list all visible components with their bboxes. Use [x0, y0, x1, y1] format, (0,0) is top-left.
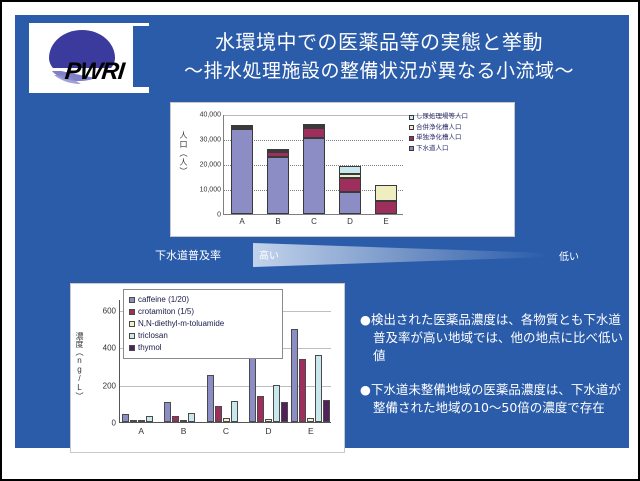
y-axis-tick-label: 0 [217, 212, 221, 219]
bar-stack [339, 166, 361, 214]
legend-swatch [409, 136, 414, 141]
bar [138, 420, 145, 422]
bar-segment [339, 174, 361, 178]
bar [188, 413, 195, 422]
bar [273, 385, 280, 422]
legend-label: 単独浄化槽人口 [416, 133, 462, 144]
bar [172, 416, 179, 422]
bar [307, 418, 314, 422]
x-axis-tick-label: A [239, 217, 244, 226]
y-axis-tick-label: 600 [103, 307, 116, 316]
legend-item: caffeine (1/20) [129, 294, 277, 306]
bar [281, 402, 288, 423]
legend-item: 下水道人口 [409, 144, 468, 155]
legend-label: crotamiton (1/5) [138, 306, 194, 318]
concentration-chart: 濃度（ng/L） 0200400600ABCDE caffeine (1/20)… [70, 283, 345, 453]
legend-item: crotamiton (1/5) [129, 306, 277, 318]
population-chart: 人口（人） 010,00020,00030,00040,000ABCDE し尿処… [170, 102, 515, 237]
bar-segment [267, 149, 289, 151]
legend-swatch [129, 333, 135, 339]
bar [323, 400, 330, 422]
legend-item: 単独浄化槽人口 [409, 133, 468, 144]
legend-item: triclosan [129, 330, 277, 342]
bar [223, 418, 230, 422]
title-line-2: 〜排水処理施設の整備状況が異なる小流域〜 [184, 57, 574, 86]
x-axis-tick-label: E [383, 217, 388, 226]
sewerage-rate-low-label: 低い [559, 248, 579, 263]
y-axis-tick-label: 10,000 [200, 187, 221, 194]
bar-segment [303, 128, 325, 138]
gridline [224, 115, 403, 116]
bar [122, 414, 129, 422]
y-axis-tick-label: 200 [103, 381, 116, 390]
concentration-chart-y-axis-label: 濃度（ng/L） [74, 332, 85, 400]
legend-swatch [129, 297, 135, 303]
bar [130, 420, 137, 422]
bar [164, 402, 171, 422]
population-chart-y-axis-label: 人口（人） [173, 131, 189, 176]
bar-segment [267, 152, 289, 156]
finding-item-1: ●検出された医薬品濃度は、各物質とも下水道普及率が高い地域では、他の地点に比べ低… [360, 311, 625, 365]
x-axis-tick-label: E [308, 426, 314, 436]
population-chart-plot-area: 010,00020,00030,00040,000ABCDE [223, 115, 403, 215]
bar-segment [231, 125, 253, 127]
legend-swatch [409, 146, 414, 151]
legend-swatch [129, 345, 135, 351]
x-axis-tick-label: C [311, 217, 317, 226]
legend-label: caffeine (1/20) [138, 294, 189, 306]
sewerage-rate-high-label: 高い [259, 247, 279, 262]
legend-label: N,N-diethyl-m-toluamide [138, 318, 224, 330]
bar-stack [375, 185, 397, 215]
legend-swatch [129, 321, 135, 327]
findings-list: ●検出された医薬品濃度は、各物質とも下水道普及率が高い地域では、他の地点に比べ低… [360, 311, 625, 433]
bar [299, 359, 306, 422]
slide-page: PWRI 水環境中での医薬品等の実態と挙動 〜排水処理施設の整備状況が異なる小流… [0, 0, 640, 481]
concentration-chart-legend: caffeine (1/20)crotamiton (1/5)N,N-dieth… [123, 289, 283, 359]
page-title: 水環境中での医薬品等の実態と挙動 〜排水処理施設の整備状況が異なる小流域〜 [133, 26, 625, 87]
bar [231, 401, 238, 422]
bar [315, 355, 322, 422]
sewerage-rate-band: 下水道普及率 高い 低い [155, 243, 625, 269]
population-chart-legend: し尿処理場等人口合併浄化槽人口単独浄化槽人口下水道人口 [409, 112, 468, 154]
x-axis-tick-label: C [223, 426, 229, 436]
legend-item: thymol [129, 342, 277, 354]
y-axis-tick-label: 400 [103, 344, 116, 353]
legend-swatch [409, 125, 414, 130]
bar-segment [303, 126, 325, 128]
slide-panel: PWRI 水環境中での医薬品等の実態と挙動 〜排水処理施設の整備状況が異なる小流… [13, 13, 631, 450]
finding-item-2: ●下水道未整備地域の医薬品濃度は、下水道が整備された地域の10〜50倍の濃度で存… [360, 381, 625, 417]
bar-segment [339, 178, 361, 192]
x-axis-tick-label: D [347, 217, 353, 226]
bar-segment [231, 129, 253, 214]
legend-item: し尿処理場等人口 [409, 112, 468, 123]
bar [180, 420, 187, 422]
bar-segment [231, 127, 253, 129]
x-axis-tick-label: B [181, 426, 187, 436]
bar [207, 375, 214, 422]
legend-item: 合併浄化槽人口 [409, 123, 468, 134]
x-axis-tick-label: A [138, 426, 144, 436]
bar-stack [231, 126, 253, 214]
legend-label: triclosan [138, 330, 168, 342]
sewerage-rate-label: 下水道普及率 [155, 247, 221, 263]
title-line-1: 水環境中での医薬品等の実態と挙動 [215, 28, 543, 57]
y-axis-tick-label: 30,000 [200, 137, 221, 144]
bar [146, 416, 153, 422]
bar [265, 419, 272, 422]
bar [257, 396, 264, 422]
bar-segment [303, 124, 325, 126]
pwri-logo: PWRI [29, 23, 149, 93]
legend-label: thymol [138, 342, 162, 354]
gradient-arrow-icon [253, 243, 548, 267]
bar [215, 406, 222, 422]
bar-segment [375, 201, 397, 215]
bar-segment [303, 138, 325, 214]
bar-segment [339, 166, 361, 174]
legend-swatch [409, 115, 414, 120]
legend-item: N,N-diethyl-m-toluamide [129, 318, 277, 330]
bar-stack [303, 124, 325, 214]
bar-segment [267, 157, 289, 215]
bar [291, 329, 298, 422]
bar-segment [339, 192, 361, 215]
legend-label: 下水道人口 [416, 144, 449, 155]
x-axis-tick-label: B [275, 217, 280, 226]
y-axis-tick-label: 0 [112, 419, 116, 428]
legend-label: し尿処理場等人口 [416, 112, 468, 123]
legend-label: 合併浄化槽人口 [416, 123, 462, 134]
y-axis-tick-label: 20,000 [200, 162, 221, 169]
y-axis-tick-label: 40,000 [200, 112, 221, 119]
bar-segment [375, 185, 397, 201]
bar-stack [267, 150, 289, 214]
x-axis-tick-label: D [265, 426, 271, 436]
legend-swatch [129, 309, 135, 315]
